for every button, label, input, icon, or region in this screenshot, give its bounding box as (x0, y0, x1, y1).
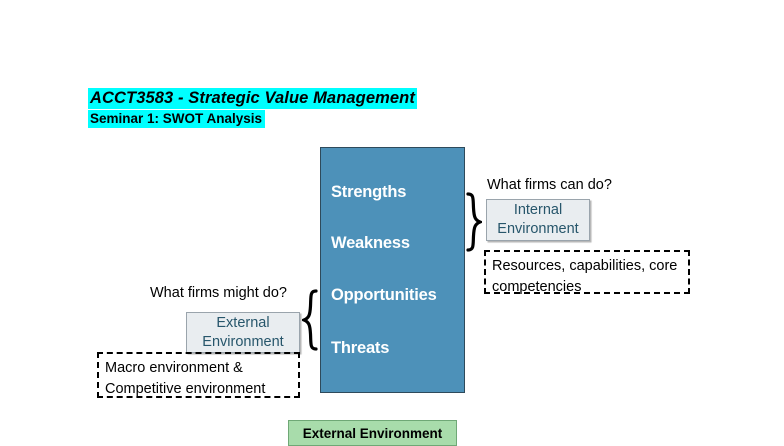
external-details-box: Macro environment & Competitive environm… (97, 352, 300, 398)
swot-item-threats: Threats (331, 338, 389, 358)
external-details-line2: Competitive environment (105, 379, 298, 400)
internal-environment-line1: Internal (514, 201, 562, 220)
right-curly-brace-icon (466, 192, 482, 252)
seminar-subtitle: Seminar 1: SWOT Analysis (88, 110, 265, 128)
external-details-line1: Macro environment & (105, 358, 298, 379)
internal-details-line1: Resources, capabilities, core (492, 256, 688, 277)
swot-item-weakness: Weakness (331, 233, 410, 253)
slide-title-block: ACCT3583 - Strategic Value Management Se… (88, 88, 417, 128)
external-environment-line1: External (216, 314, 269, 333)
course-title-line: ACCT3583 - Strategic Value Management (88, 88, 417, 109)
internal-question-label: What firms can do? (487, 176, 612, 194)
external-environment-banner: External Environment (288, 420, 457, 446)
slide-canvas: ACCT3583 - Strategic Value Management Se… (0, 0, 784, 441)
external-environment-line2: Environment (202, 333, 283, 352)
external-environment-chip: External Environment (186, 312, 300, 353)
seminar-title-line: Seminar 1: SWOT Analysis (88, 110, 417, 128)
swot-box: Strengths Weakness Opportunities Threats (320, 147, 465, 393)
internal-details-line2: competencies (492, 277, 688, 298)
internal-details-box: Resources, capabilities, core competenci… (484, 250, 690, 294)
left-curly-brace-icon (302, 289, 318, 351)
course-title: ACCT3583 - Strategic Value Management (88, 88, 417, 109)
internal-environment-chip: Internal Environment (486, 199, 590, 241)
swot-item-opportunities: Opportunities (331, 285, 437, 305)
swot-item-strengths: Strengths (331, 182, 406, 202)
external-question-label: What firms might do? (150, 284, 287, 302)
internal-environment-line2: Environment (497, 220, 578, 239)
